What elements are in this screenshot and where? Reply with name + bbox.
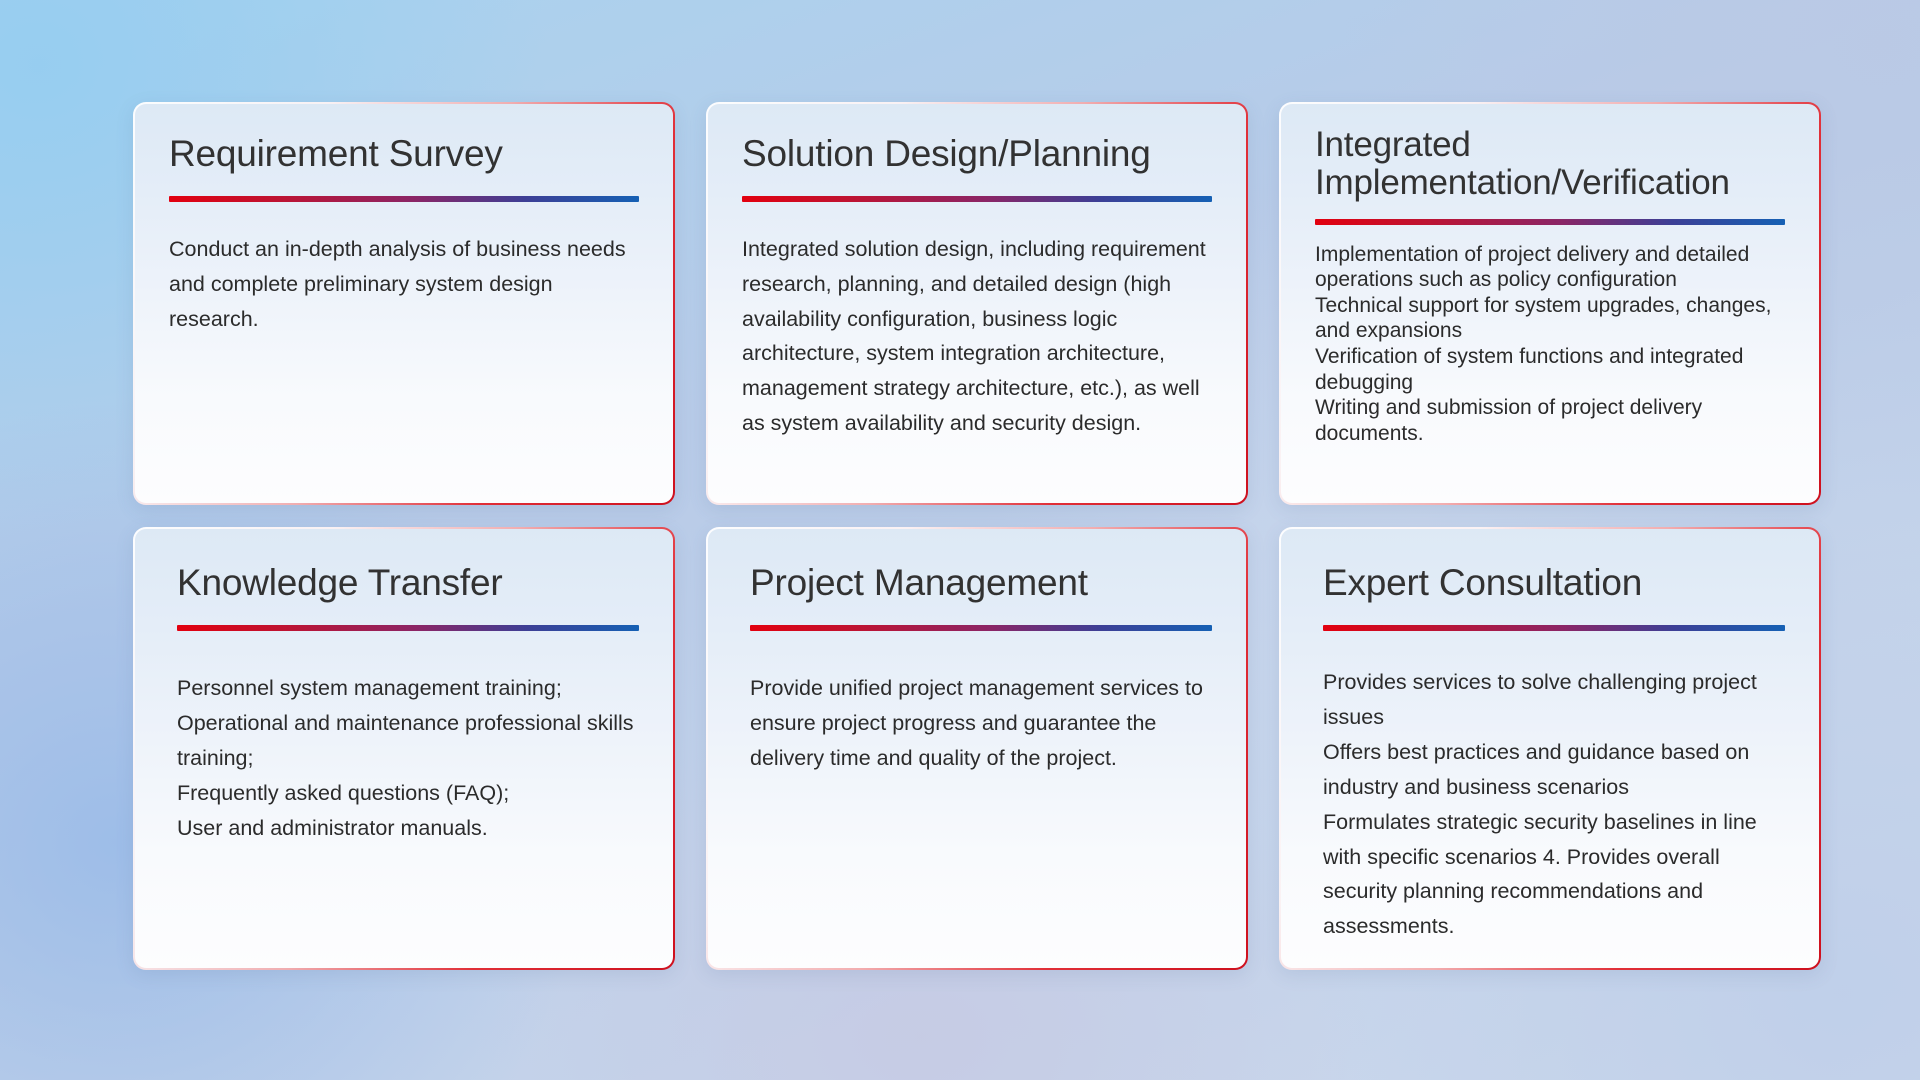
card-requirement-survey[interactable]: Requirement Survey Conduct an in-depth a…: [133, 102, 675, 505]
accent-divider: [750, 625, 1212, 631]
card-knowledge-transfer[interactable]: Knowledge Transfer Personnel system mana…: [133, 527, 675, 970]
card-solution-design-planning[interactable]: Solution Design/Planning Integrated solu…: [706, 102, 1248, 505]
card-body: Implementation of project delivery and d…: [1315, 242, 1785, 447]
card-body: Provide unified project management servi…: [750, 671, 1212, 775]
card-inner: Requirement Survey Conduct an in-depth a…: [135, 104, 673, 503]
card-integrated-implementation-verification[interactable]: Integrated Implementation/Verification I…: [1279, 102, 1821, 505]
accent-divider: [1315, 219, 1785, 225]
accent-divider: [742, 196, 1212, 202]
card-project-management[interactable]: Project Management Provide unified proje…: [706, 527, 1248, 970]
card-inner: Expert Consultation Provides services to…: [1281, 529, 1819, 968]
card-body: Personnel system management training; Op…: [177, 671, 639, 845]
card-title: Solution Design/Planning: [742, 134, 1212, 174]
card-title: Expert Consultation: [1323, 563, 1785, 603]
card-title: Project Management: [750, 563, 1212, 603]
card-body: Integrated solution design, including re…: [742, 232, 1212, 441]
card-body: Provides services to solve challenging p…: [1323, 665, 1785, 944]
page-background: Requirement Survey Conduct an in-depth a…: [0, 0, 1920, 1080]
accent-divider: [169, 196, 639, 202]
accent-divider: [177, 625, 639, 631]
accent-divider: [1323, 625, 1785, 631]
card-body: Conduct an in-depth analysis of business…: [169, 232, 639, 336]
card-inner: Knowledge Transfer Personnel system mana…: [135, 529, 673, 968]
card-grid: Requirement Survey Conduct an in-depth a…: [133, 102, 1821, 970]
card-title: Integrated Implementation/Verification: [1315, 126, 1785, 202]
card-inner: Project Management Provide unified proje…: [708, 529, 1246, 968]
card-title: Requirement Survey: [169, 134, 639, 174]
card-inner: Solution Design/Planning Integrated solu…: [708, 104, 1246, 503]
card-title: Knowledge Transfer: [177, 563, 639, 603]
card-inner: Integrated Implementation/Verification I…: [1281, 104, 1819, 503]
card-expert-consultation[interactable]: Expert Consultation Provides services to…: [1279, 527, 1821, 970]
